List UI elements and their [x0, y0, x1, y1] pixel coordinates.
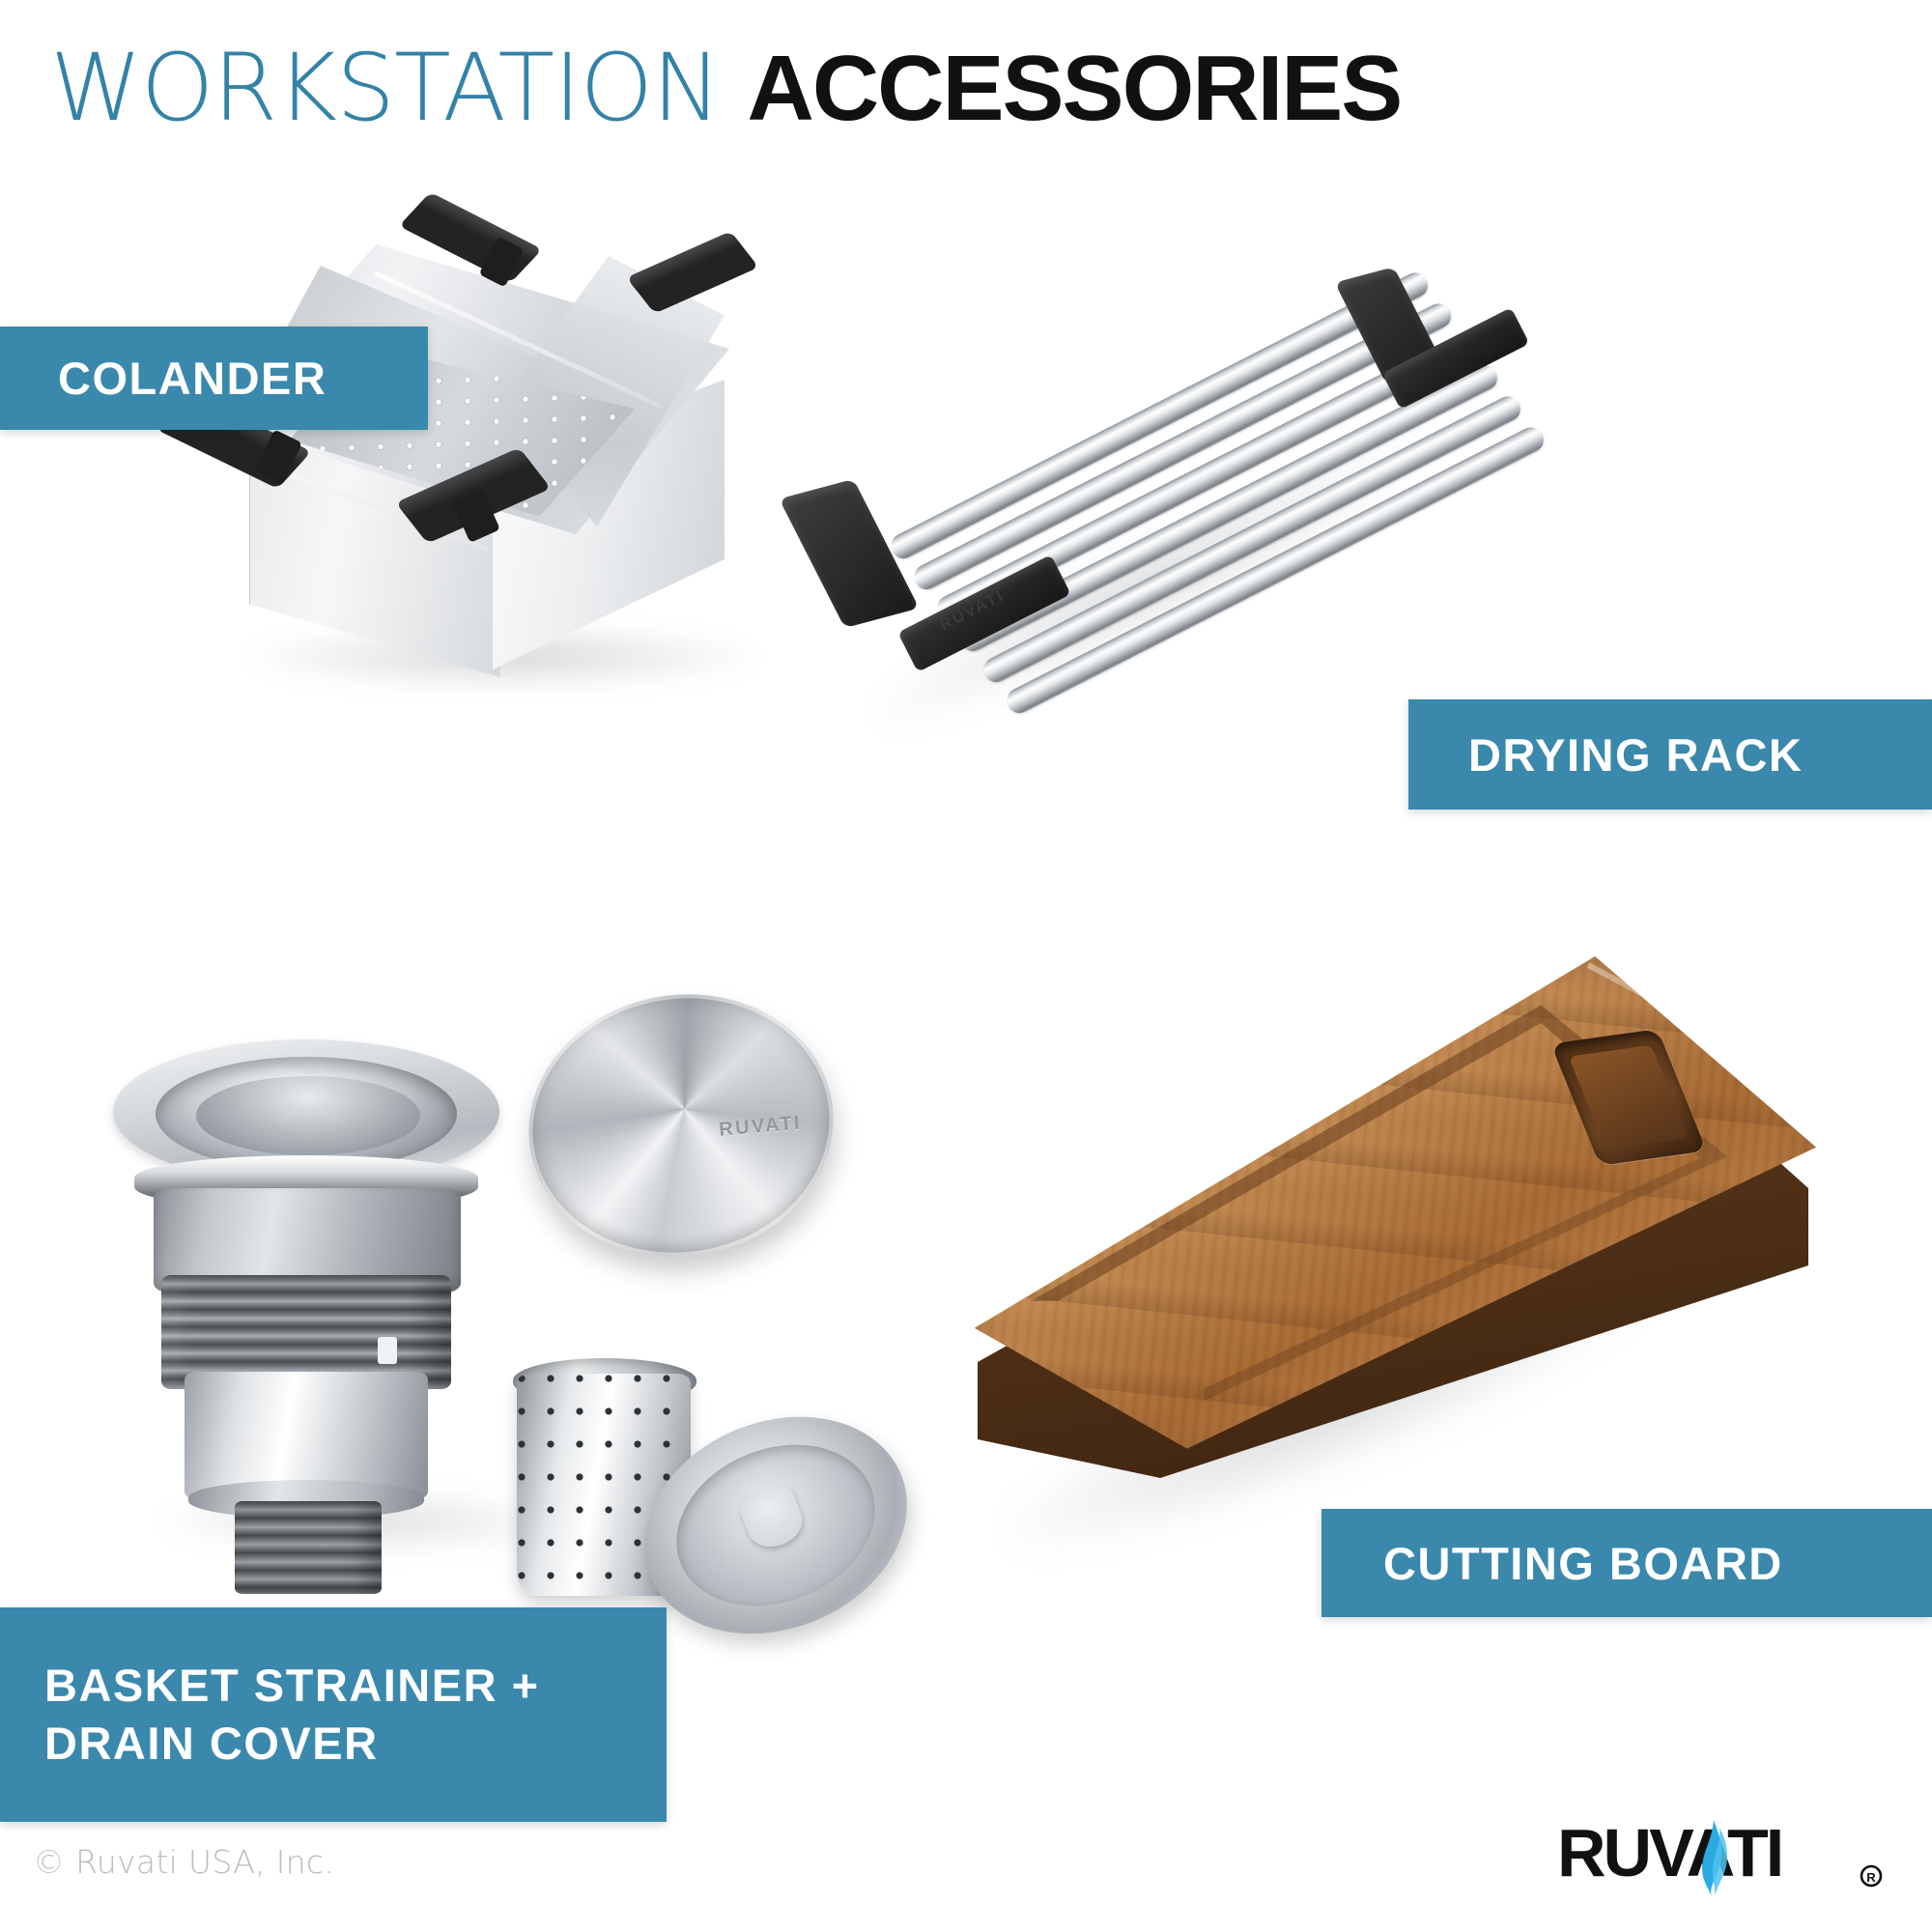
title-word-accessories: ACCESSORIES [747, 37, 1401, 140]
copyright-text: © Ruvati USA, Inc. [33, 1843, 334, 1881]
label-badge-drying-rack: DRYING RACK [1408, 699, 1932, 810]
badge-label-basket-strainer-line1: BASKET STRAINER + [44, 1657, 667, 1715]
product-image-colander [145, 208, 840, 710]
infographic-canvas: WORKSTATION ACCESSORIES [0, 0, 1932, 1932]
strainer-tailpipe-threads [235, 1501, 382, 1594]
strainer-locking-tab [378, 1337, 397, 1364]
registered-mark-glyph: R [1866, 1870, 1876, 1885]
label-badge-colander: COLANDER [0, 327, 428, 430]
label-badge-cutting-board: CUTTING BOARD [1321, 1509, 1932, 1617]
badge-label-cutting-board: CUTTING BOARD [1383, 1537, 1932, 1590]
ruvati-logo: RUVATI R [1557, 1814, 1886, 1897]
product-image-basket-strainer: RUVATI [92, 985, 913, 1604]
title-word-workstation: WORKSTATION [50, 34, 721, 142]
drain-cover-disc: RUVATI [510, 973, 852, 1278]
ruvati-logo-svg: RUVATI R [1557, 1814, 1886, 1897]
badge-label-basket-strainer: BASKET STRAINER + DRAIN COVER [44, 1657, 667, 1773]
strainer-flange-inner [196, 1076, 420, 1155]
badge-label-drying-rack: DRYING RACK [1468, 728, 1932, 781]
page-title: WORKSTATION ACCESSORIES [50, 37, 1401, 141]
label-badge-basket-strainer: BASKET STRAINER + DRAIN COVER [0, 1607, 667, 1822]
product-image-drying-rack: RUVATI [792, 232, 1565, 686]
badge-label-colander: COLANDER [58, 352, 428, 405]
ruvati-logo-wordmark: RUVATI [1557, 1815, 1781, 1890]
badge-label-basket-strainer-line2: DRAIN COVER [44, 1715, 667, 1773]
